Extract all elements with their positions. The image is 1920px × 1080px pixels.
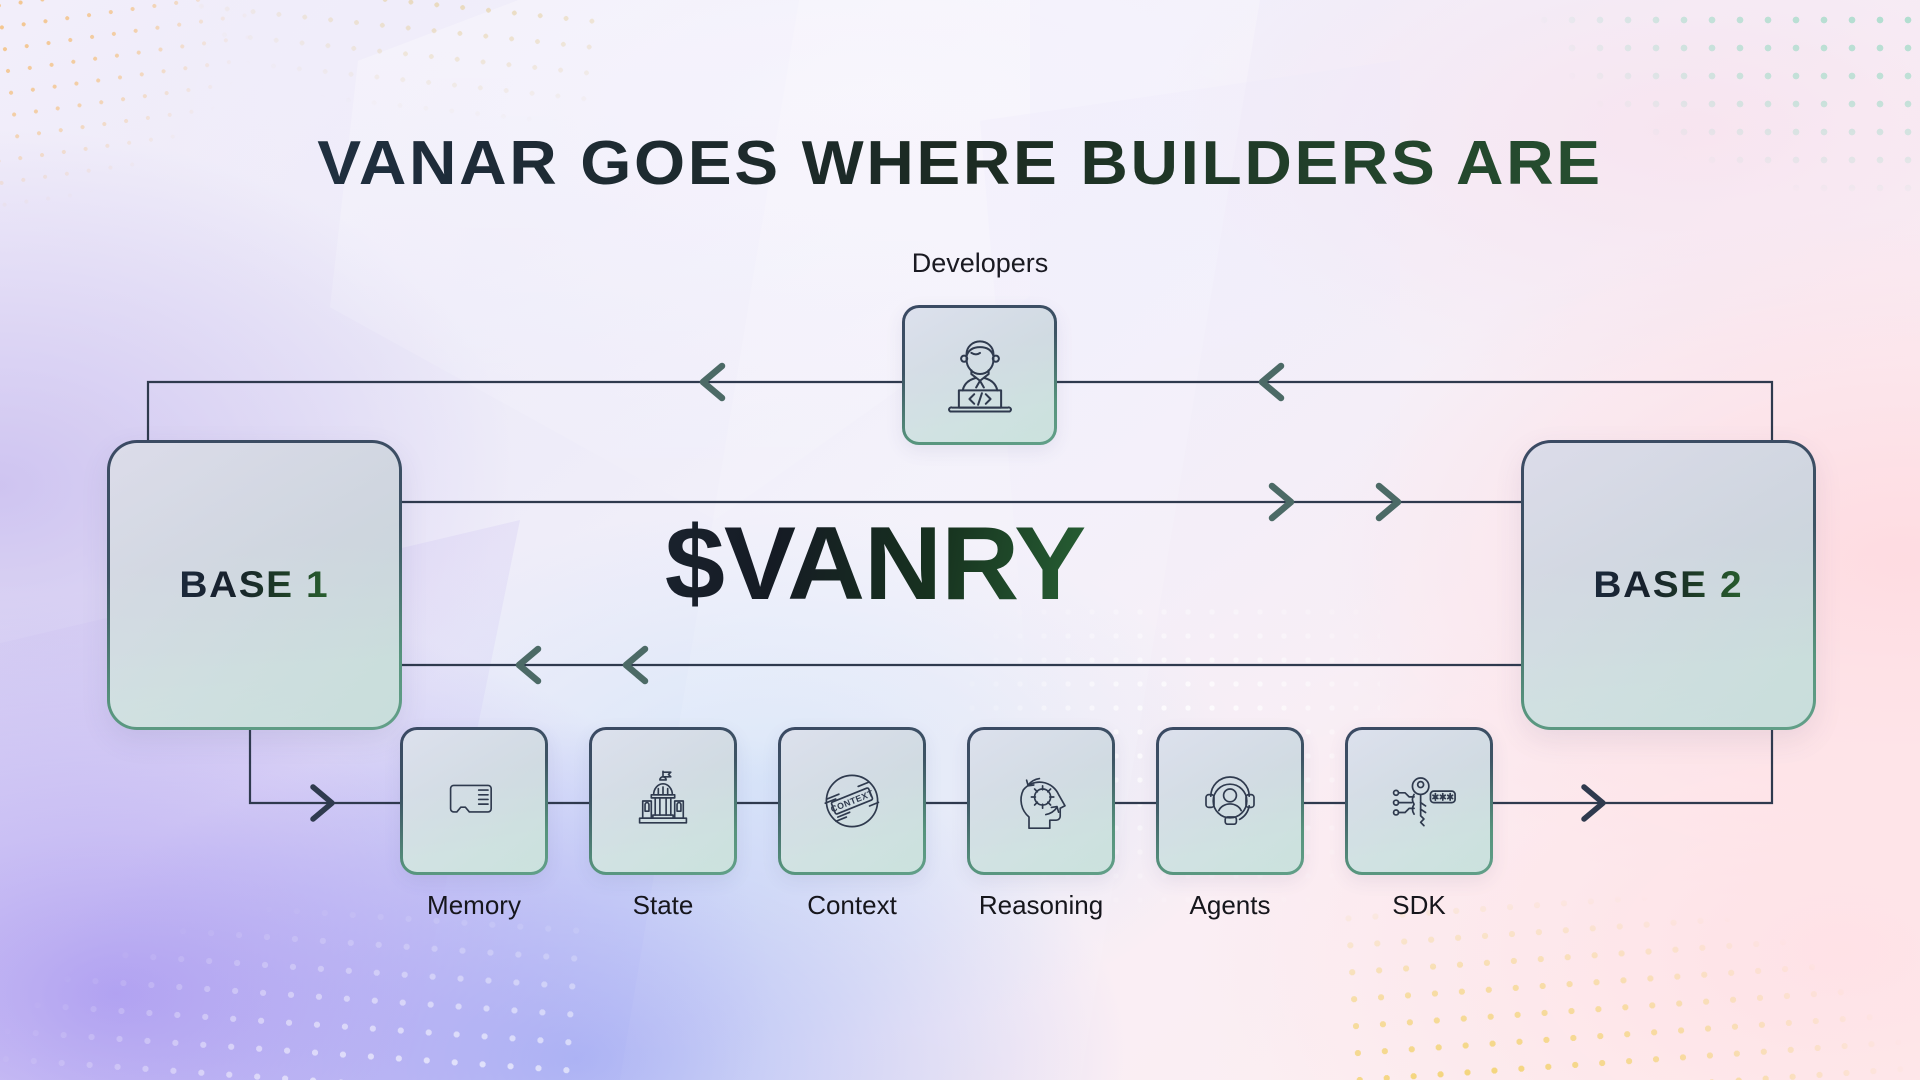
memory-card-icon [435, 762, 513, 840]
vanry-wordmark: $VANRY [631, 512, 1120, 616]
context-stamp-icon: CONTEXT [812, 761, 892, 841]
context-icon-box: CONTEXT [778, 727, 926, 875]
agents-icon-box [1156, 727, 1304, 875]
feature-label: Agents [1156, 890, 1304, 921]
memory-icon-box [400, 727, 548, 875]
node-base-1[interactable]: BASE 1 [107, 440, 402, 730]
node-base-2[interactable]: BASE 2 [1521, 440, 1816, 730]
feature-label: SDK [1345, 890, 1493, 921]
feature-label: Context [778, 890, 926, 921]
page-title: VANAR GOES WHERE BUILDERS ARE [0, 128, 1920, 199]
head-gear-icon [1001, 761, 1081, 841]
feature-label: State [589, 890, 737, 921]
sdk-icon-box [1345, 727, 1493, 875]
agent-headset-icon [1190, 761, 1270, 841]
reasoning-icon-box [967, 727, 1115, 875]
feature-memory[interactable]: Memory [400, 727, 548, 921]
feature-reasoning[interactable]: Reasoning [967, 727, 1115, 921]
base-1-label: BASE 1 [180, 564, 330, 606]
state-icon-box [589, 727, 737, 875]
developers-label: Developers [850, 248, 1110, 279]
developers-icon-box [902, 305, 1057, 445]
node-developers[interactable] [902, 305, 1057, 445]
feature-label: Memory [400, 890, 548, 921]
feature-label: Reasoning [967, 890, 1115, 921]
feature-state[interactable]: State [589, 727, 737, 921]
infographic-canvas: VANAR GOES WHERE BUILDERS ARE $VANRY BAS… [0, 0, 1920, 1080]
feature-agents[interactable]: Agents [1156, 727, 1304, 921]
base-2-label: BASE 2 [1594, 564, 1744, 606]
developer-laptop-icon [932, 327, 1028, 423]
capitol-building-icon [624, 762, 702, 840]
key-circuit-icon [1378, 760, 1460, 842]
feature-context[interactable]: CONTEXT Context [778, 727, 926, 921]
feature-sdk[interactable]: SDK [1345, 727, 1493, 921]
